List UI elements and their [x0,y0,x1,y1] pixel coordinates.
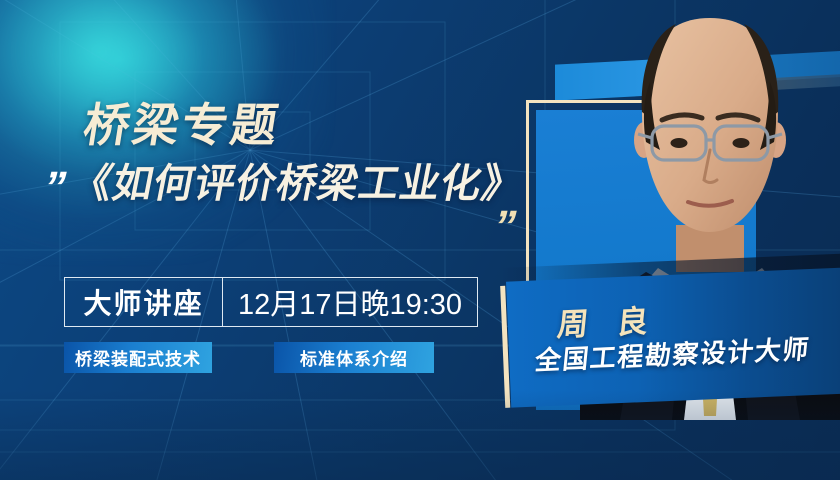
topic-tag-1: 桥梁装配式技术 [64,342,212,373]
page-title: 桥梁专题 [80,102,517,148]
webinar-poster: ” ” 桥梁专题 《如何评价桥梁工业化》 大师讲座 12月17日晚19:30 桥… [0,0,840,480]
speaker-nameplate: 周 良 全国工程勘察设计大师 [500,268,840,410]
speaker-composition: 周 良 全国工程勘察设计大师 [470,0,840,480]
quote-open-icon: ” [39,166,72,210]
headline-block: 桥梁专题 《如何评价桥梁工业化》 [84,102,514,148]
lecture-datetime-label: 12月17日晚19:30 [238,281,462,323]
nameplate-body: 周 良 全国工程勘察设计大师 [506,268,840,408]
topic-tag-2: 标准体系介绍 [274,342,434,373]
lecture-type-label: 大师讲座 [83,282,203,322]
lecture-info-bar: 大师讲座 12月17日晚19:30 [64,277,478,327]
lecture-type-cell: 大师讲座 [65,278,223,326]
page-subtitle: 《如何评价桥梁工业化》 [68,164,527,204]
lecture-datetime-cell: 12月17日晚19:30 [223,278,477,326]
